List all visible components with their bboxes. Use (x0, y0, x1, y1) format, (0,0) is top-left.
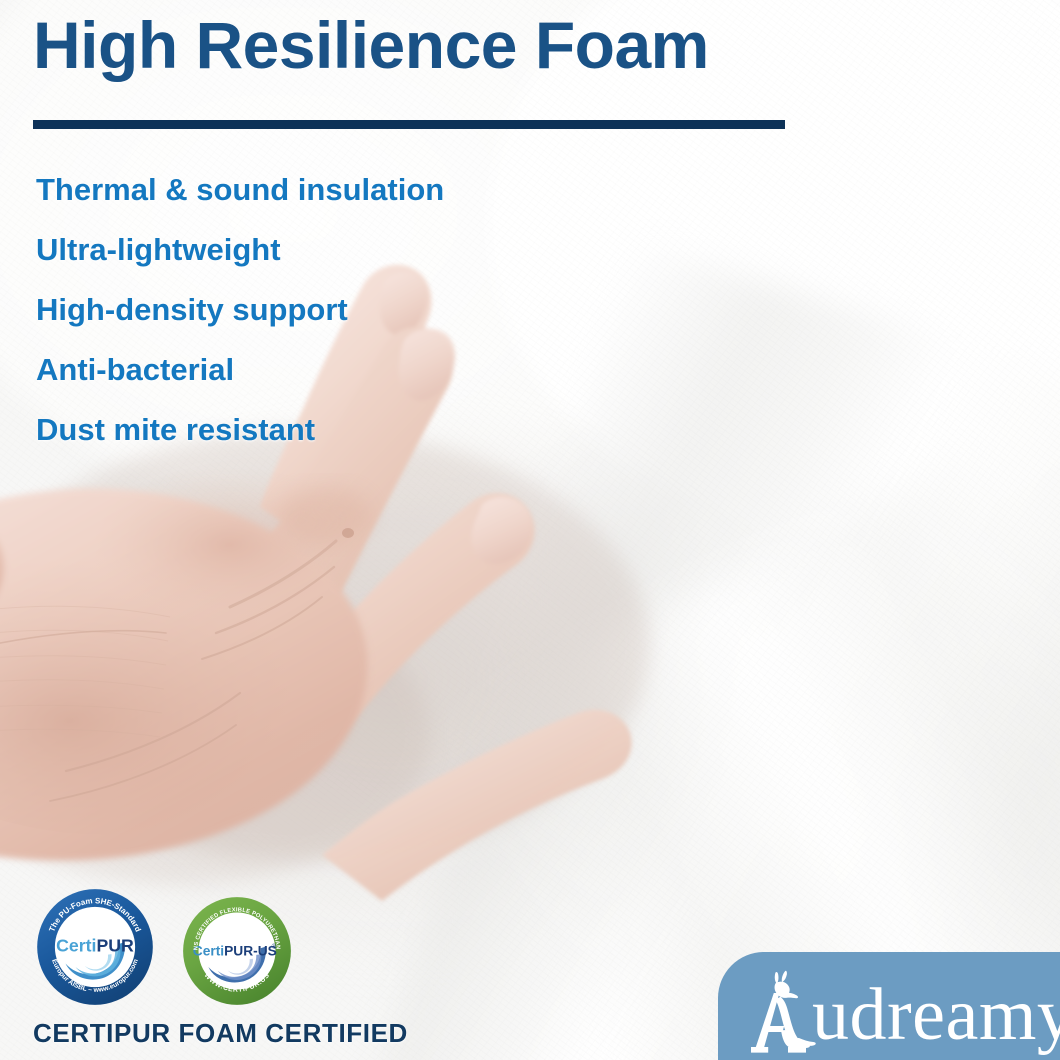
certipur-europe-certi: Certi (56, 936, 96, 956)
certipur-europe-badge: CertiPUR The PU-Foam SHE-Standard Europu… (36, 888, 154, 1006)
svg-text:CertiPUR: CertiPUR (56, 936, 134, 956)
feature-list-item: Thermal & sound insulation (36, 160, 676, 220)
brand-logo-panel: udreamy (718, 952, 1060, 1060)
certipur-us-badge: CertiPUR-US ® CONTAINS CERTIFIED FLEXIBL… (182, 896, 292, 1006)
page-title: High Resilience Foam (33, 10, 709, 81)
kangaroo-icon (744, 968, 818, 1054)
product-feature-poster: High Resilience Foam Thermal & sound ins… (0, 0, 1060, 1060)
svg-text:CertiPUR-US: CertiPUR-US (193, 943, 277, 958)
certification-caption: CERTIPUR FOAM CERTIFIED (33, 1018, 408, 1049)
feature-list-item: Anti-bacterial (36, 340, 676, 400)
brand-wordmark: udreamy (812, 976, 1060, 1054)
feature-list: Thermal & sound insulation Ultra-lightwe… (36, 160, 676, 460)
certipur-us-pur-us: PUR-US (224, 943, 277, 958)
brand-lockup: udreamy (744, 958, 1060, 1054)
certipur-europe-pur: PUR (96, 936, 134, 956)
feature-list-item: Ultra-lightweight (36, 220, 676, 280)
feature-list-item: Dust mite resistant (36, 400, 676, 460)
feature-list-item: High-density support (36, 280, 676, 340)
title-underline-rule (33, 120, 785, 129)
foam-photo-background (0, 0, 1060, 1060)
